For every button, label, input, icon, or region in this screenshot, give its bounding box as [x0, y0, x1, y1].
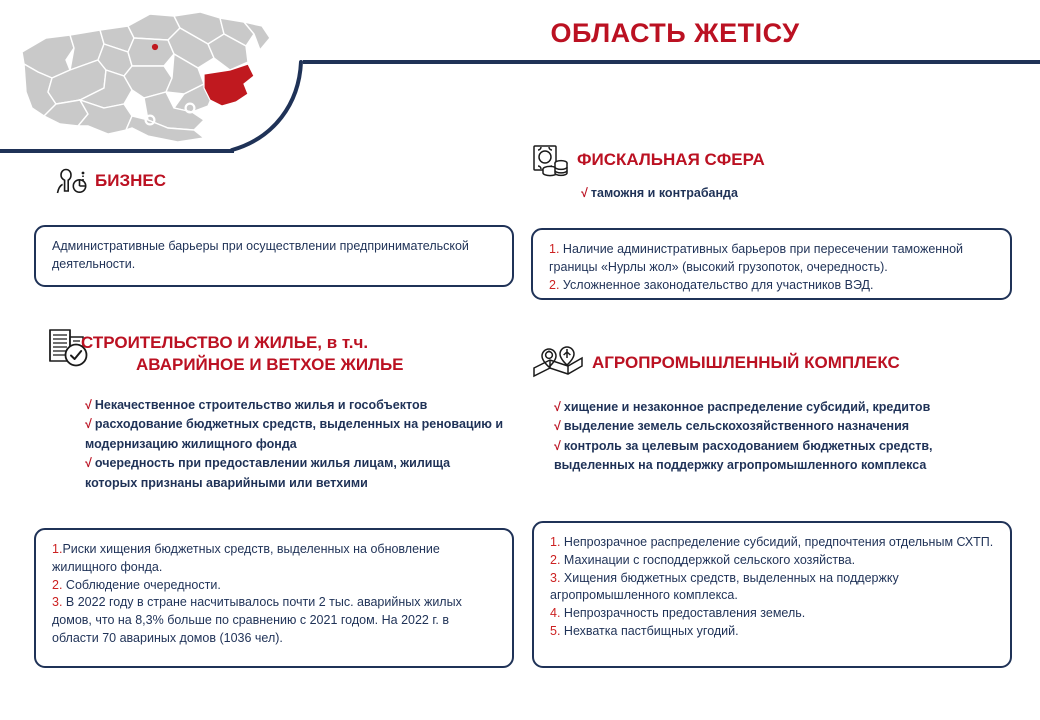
- construction-box-item: 2. Соблюдение очередности.: [52, 577, 498, 595]
- business-box-line: Административные барьеры при осуществлен…: [52, 238, 498, 274]
- construction-title-line1: СТРОИТЕЛЬСТВО И ЖИЛЬЕ, в т.ч.: [81, 333, 368, 352]
- construction-checklist: √Некачественное строительство жилья и го…: [85, 396, 505, 493]
- page-title: ОБЛАСТЬ ЖЕТІСУ: [330, 18, 1020, 49]
- fiscal-check-item: √таможня и контрабанда: [581, 184, 765, 203]
- fiscal-box-item: 1. Наличие административных барьеров при…: [549, 241, 996, 277]
- construction-check-text: очередность при предоставлении жилья лиц…: [85, 456, 450, 489]
- construction-heading: СТРОИТЕЛЬСТВО И ЖИЛЬЕ, в т.ч. АВАРИЙНОЕ …: [46, 326, 516, 386]
- agro-title: АГРОПРОМЫШЛЕННЫЙ КОМПЛЕКС: [592, 353, 900, 373]
- construction-box-item: 1.Риски хищения бюджетных средств, выдел…: [52, 541, 498, 577]
- item-text: В 2022 году в стране насчитывалось почти…: [52, 595, 462, 645]
- money-banknote-coins-icon: [531, 142, 571, 178]
- map-svg: [8, 8, 288, 148]
- item-text: Непрозрачное распределение субсидий, пре…: [564, 535, 993, 549]
- kazakhstan-map: [8, 8, 288, 148]
- agro-box-item: 4. Непрозрачность предоставления земель.: [550, 605, 996, 623]
- construction-check-text: Некачественное строительство жилья и гос…: [95, 398, 427, 412]
- item-number: 2.: [550, 553, 560, 567]
- check-icon: √: [85, 398, 92, 412]
- section-business: БИЗНЕС: [55, 166, 166, 196]
- fiscal-heading: ФИСКАЛЬНАЯ СФЕРА: [531, 142, 765, 178]
- agro-box-item: 2. Махинации с господдержкой сельского х…: [550, 552, 996, 570]
- construction-check-item: √расходование бюджетных средств, выделен…: [85, 415, 505, 454]
- business-title: БИЗНЕС: [95, 171, 166, 191]
- item-number: 3.: [52, 595, 62, 609]
- item-number: 5.: [550, 624, 560, 638]
- check-icon: √: [554, 419, 561, 433]
- fiscal-checklist: √таможня и контрабанда: [581, 184, 765, 203]
- agro-info-box: 1. Непрозрачное распределение субсидий, …: [532, 521, 1012, 668]
- agro-heading: АГРОПРОМЫШЛЕННЫЙ КОМПЛЕКС: [528, 344, 1018, 382]
- agro-box-item: 1. Непрозрачное распределение субсидий, …: [550, 534, 996, 552]
- check-icon: √: [85, 456, 92, 470]
- check-icon: √: [85, 417, 92, 431]
- agro-checklist: √хищение и незаконное распределение субс…: [554, 398, 1016, 476]
- business-heading: БИЗНЕС: [55, 166, 166, 196]
- item-number: 1.: [52, 542, 62, 556]
- construction-info-box: 1.Риски хищения бюджетных средств, выдел…: [34, 528, 514, 668]
- agro-check-text: выделение земель сельскохозяйственного н…: [564, 419, 909, 433]
- item-number: 1.: [549, 242, 559, 256]
- map-pins-agriculture-icon: [528, 344, 586, 382]
- item-text: Хищения бюджетных средств, выделенных на…: [550, 571, 899, 603]
- agro-check-item: √хищение и незаконное распределение субс…: [554, 398, 1016, 417]
- map-highlighted-region: [204, 64, 254, 106]
- item-text: Наличие административных барьеров при пе…: [549, 242, 963, 274]
- fiscal-title: ФИСКАЛЬНАЯ СФЕРА: [577, 150, 765, 170]
- construction-check-item: √Некачественное строительство жилья и го…: [85, 396, 505, 415]
- check-icon: √: [554, 400, 561, 414]
- item-text: Нехватка пастбищных угодий.: [564, 624, 739, 638]
- construction-check-item: √очередность при предоставлении жилья ли…: [85, 454, 505, 493]
- item-text: Соблюдение очередности.: [66, 578, 221, 592]
- item-number: 2.: [52, 578, 62, 592]
- business-info-box: Административные барьеры при осуществлен…: [34, 225, 514, 287]
- item-text: Риски хищения бюджетных средств, выделен…: [52, 542, 440, 574]
- agro-check-text: контроль за целевым расходованием бюджет…: [554, 439, 932, 472]
- fiscal-check-text: таможня и контрабанда: [591, 186, 738, 200]
- item-number: 1.: [550, 535, 560, 549]
- item-text: Махинации с господдержкой сельского хозя…: [564, 553, 855, 567]
- section-fiscal: ФИСКАЛЬНАЯ СФЕРА √таможня и контрабанда: [531, 142, 765, 203]
- item-text: Усложненное законодательство для участни…: [563, 278, 874, 292]
- agro-check-text: хищение и незаконное распределение субси…: [564, 400, 930, 414]
- check-icon: √: [581, 186, 588, 200]
- agro-check-item: √контроль за целевым расходованием бюдже…: [554, 437, 1016, 476]
- section-agro: АГРОПРОМЫШЛЕННЫЙ КОМПЛЕКС √хищение и нез…: [528, 344, 1018, 476]
- construction-title-line2: АВАРИЙНОЕ И ВЕТХОЕ ЖИЛЬЕ: [136, 354, 404, 376]
- fiscal-box-item: 2. Усложненное законодательство для учас…: [549, 277, 996, 295]
- item-number: 2.: [549, 278, 559, 292]
- capital-marker: [152, 44, 158, 50]
- item-number: 3.: [550, 571, 560, 585]
- agro-box-item: 3. Хищения бюджетных средств, выделенных…: [550, 570, 996, 606]
- construction-box-item: 3. В 2022 году в стране насчитывалось по…: [52, 594, 498, 647]
- item-number: 4.: [550, 606, 560, 620]
- section-construction: СТРОИТЕЛЬСТВО И ЖИЛЬЕ, в т.ч. АВАРИЙНОЕ …: [46, 326, 516, 493]
- fiscal-info-box: 1. Наличие административных барьеров при…: [531, 228, 1012, 300]
- check-icon: √: [554, 439, 561, 453]
- agro-box-item: 5. Нехватка пастбищных угодий.: [550, 623, 996, 641]
- person-pie-chart-icon: [55, 166, 89, 196]
- construction-check-text: расходование бюджетных средств, выделенн…: [85, 417, 503, 450]
- item-text: Непрозрачность предоставления земель.: [564, 606, 805, 620]
- agro-check-item: √выделение земель сельскохозяйственного …: [554, 417, 1016, 436]
